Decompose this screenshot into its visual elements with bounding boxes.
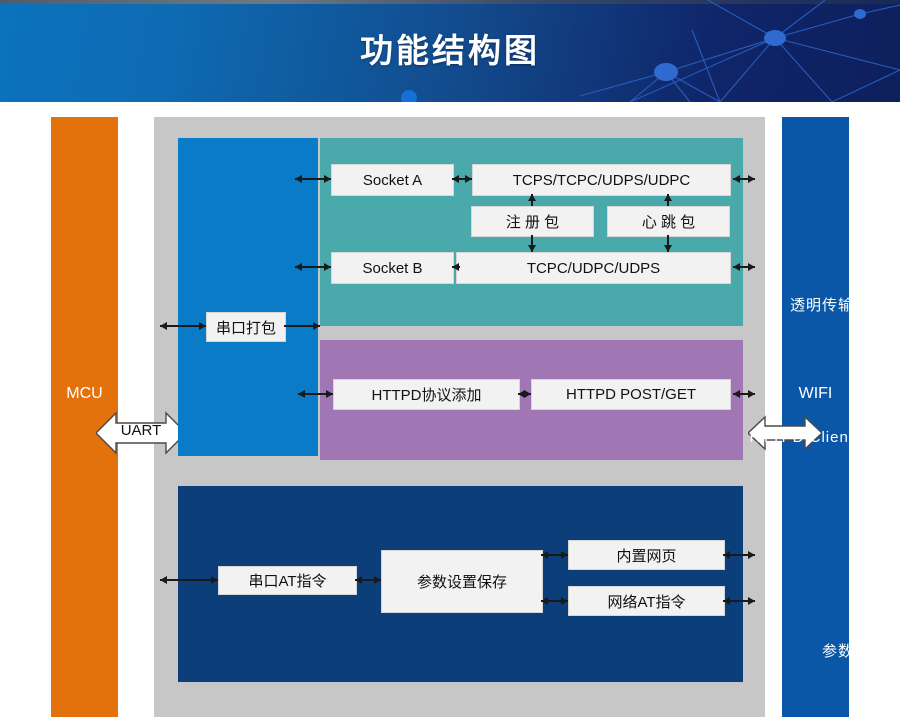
- arrowhead-right: [374, 576, 381, 584]
- socket-b-box[interactable]: Socket B: [331, 252, 454, 284]
- arrowhead-down: [528, 245, 536, 252]
- httpd-protocol-add-box[interactable]: HTTPD协议添加: [333, 379, 520, 410]
- socket-a-box[interactable]: Socket A: [331, 164, 454, 196]
- connector-mcu-to-uart-at: [160, 579, 218, 581]
- uart-label: UART: [110, 422, 172, 439]
- heartbeat-packet-box[interactable]: 心 跳 包: [607, 206, 730, 237]
- header-accent-node: [401, 90, 417, 102]
- arrowhead-left: [723, 551, 730, 559]
- arrowhead-right: [324, 175, 331, 183]
- arrowhead-right: [326, 390, 333, 398]
- mcu-label: MCU: [51, 385, 118, 403]
- arrowhead-right: [748, 390, 755, 398]
- arrowhead-left: [733, 175, 740, 183]
- arrowhead-right: [524, 390, 531, 398]
- arrowhead-right: [211, 576, 218, 584]
- arrowhead-left: [723, 597, 730, 605]
- httpd-post-get-box[interactable]: HTTPD POST/GET: [531, 379, 731, 410]
- arrowhead-left: [160, 322, 167, 330]
- arrowhead-left: [355, 576, 362, 584]
- arrowhead-up: [528, 194, 536, 201]
- arrowhead-down: [664, 245, 672, 252]
- arrowhead-right: [465, 175, 472, 183]
- uart-at-command-box[interactable]: 串口AT指令: [218, 566, 357, 595]
- arrowhead-left: [298, 390, 305, 398]
- arrowhead-left: [295, 175, 302, 183]
- network-at-command-box[interactable]: 网络AT指令: [568, 586, 725, 616]
- arrowhead-right: [324, 263, 331, 271]
- protocol-b-box[interactable]: TCPC/UDPC/UDPS: [456, 252, 731, 284]
- arrowhead-right: [561, 551, 568, 559]
- arrowhead-left: [452, 175, 459, 183]
- arrowhead-left: [733, 390, 740, 398]
- arrowhead-left: [295, 263, 302, 271]
- page-title: 功能结构图: [0, 24, 900, 72]
- arrowhead-right: [748, 175, 755, 183]
- arrowhead-right: [561, 597, 568, 605]
- arrowhead-left: [733, 263, 740, 271]
- arrowhead-up: [664, 194, 672, 201]
- arrowhead-right: [313, 322, 320, 330]
- serial-processing-column: [178, 138, 318, 456]
- arrowhead-left: [541, 597, 548, 605]
- arrowhead-right: [748, 263, 755, 271]
- wifi-label: WIFI: [782, 385, 849, 403]
- page-header: 功能结构图: [0, 0, 900, 102]
- arrowhead-left: [452, 263, 459, 271]
- serial-pack-box[interactable]: 串口打包: [206, 312, 286, 342]
- arrowhead-right: [199, 322, 206, 330]
- httpd-client-mode-tag: HTTPD Client模式: [749, 426, 886, 447]
- parameter-settings-tag: 参数设置: [822, 640, 886, 661]
- builtin-webpage-box[interactable]: 内置网页: [568, 540, 725, 570]
- diagram-canvas: MCU WIFI UART 串口打包 透明传输模式 Socket A TCPS/…: [0, 102, 900, 724]
- arrowhead-left: [160, 576, 167, 584]
- protocol-a-box[interactable]: TCPS/TCPC/UDPS/UDPC: [472, 164, 731, 196]
- save-parameters-box[interactable]: 参数设置保存: [381, 550, 543, 613]
- register-packet-box[interactable]: 注 册 包: [471, 206, 594, 237]
- transparent-mode-tag: 透明传输模式: [790, 294, 886, 315]
- arrowhead-right: [748, 597, 755, 605]
- arrowhead-left: [541, 551, 548, 559]
- arrowhead-right: [748, 551, 755, 559]
